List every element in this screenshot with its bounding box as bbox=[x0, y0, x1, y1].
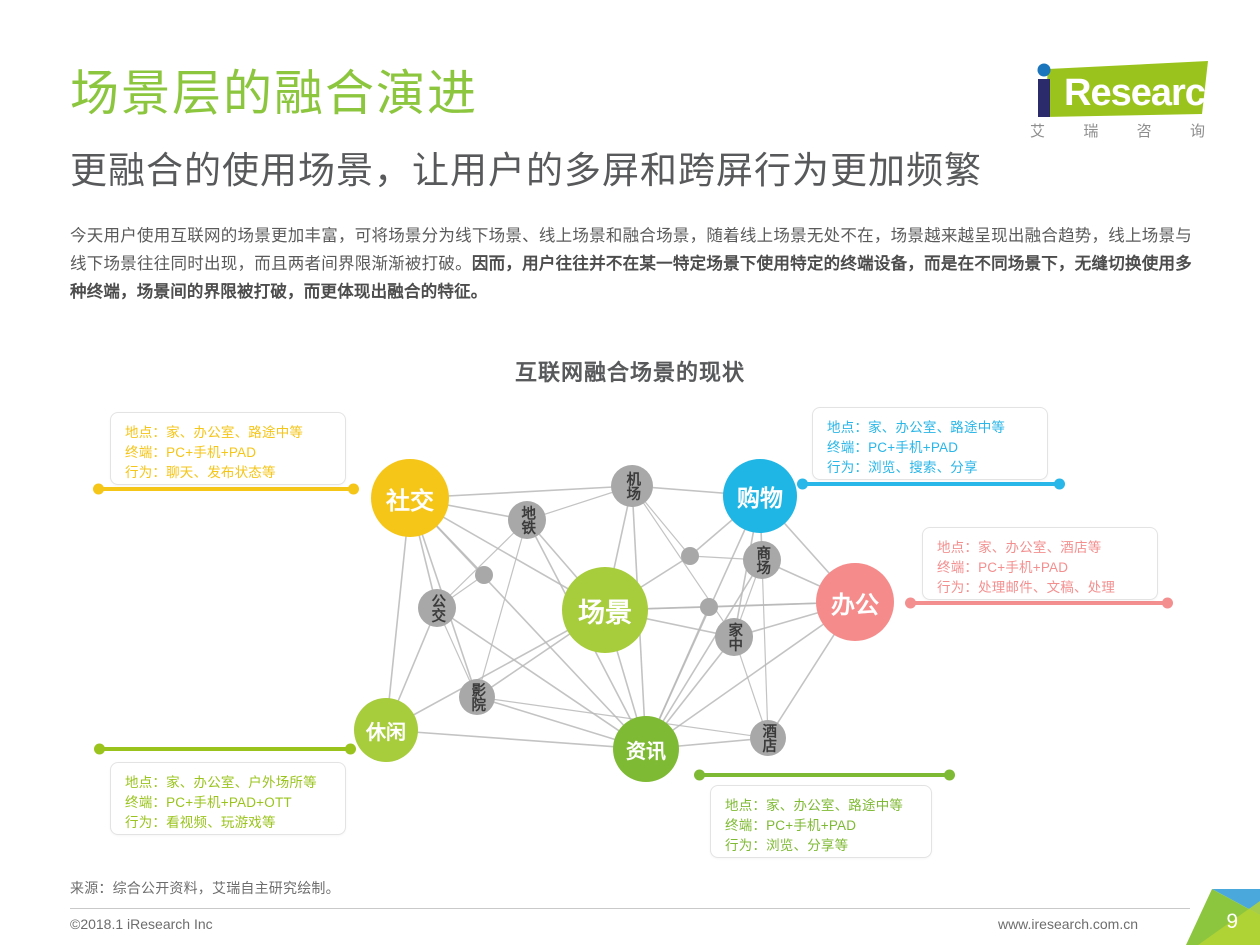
social-callout-line-0: 地点：家、办公室、路途中等 bbox=[125, 423, 331, 443]
info-callout-connector bbox=[697, 773, 952, 777]
office-callout-line-1: 终端：PC+手机+PAD bbox=[937, 558, 1143, 578]
info-callout-connector-cap-l bbox=[694, 770, 705, 781]
leisure-callout-line-1: 终端：PC+手机+PAD+OTT bbox=[125, 793, 331, 813]
social-callout-line-1: 终端：PC+手机+PAD bbox=[125, 443, 331, 463]
diagram-edge bbox=[762, 560, 768, 738]
page-number: 9 bbox=[1226, 910, 1238, 934]
info-callout: 地点：家、办公室、路途中等终端：PC+手机+PAD行为：浏览、分享等 bbox=[710, 785, 932, 858]
footer-divider bbox=[70, 908, 1190, 909]
leisure-callout-line-2: 行为：看视频、玩游戏等 bbox=[125, 813, 331, 833]
shopping-callout-connector-cap-l bbox=[797, 479, 808, 490]
office-callout: 地点：家、办公室、酒店等终端：PC+手机+PAD行为：处理邮件、文稿、处理 bbox=[922, 527, 1158, 600]
info-callout-line-2: 行为：浏览、分享等 bbox=[725, 836, 917, 856]
corner-decoration bbox=[1178, 889, 1260, 945]
info-callout-line-1: 终端：PC+手机+PAD bbox=[725, 816, 917, 836]
page-title: 场景层的融合演进 bbox=[70, 68, 478, 122]
node-label: 地铁 bbox=[520, 506, 535, 535]
diagram-node-leisure[interactable]: 休闲 bbox=[354, 698, 418, 762]
leisure-callout-line-0: 地点：家、办公室、户外场所等 bbox=[125, 773, 331, 793]
svg-text:Research: Research bbox=[1064, 72, 1210, 114]
diagram-edge bbox=[386, 730, 646, 749]
node-label: 社交 bbox=[386, 481, 434, 516]
shopping-callout: 地点：家、办公室、路途中等终端：PC+手机+PAD行为：浏览、搜索、分享 bbox=[812, 407, 1048, 480]
copyright-text: ©2018.1 iResearch Inc bbox=[70, 916, 213, 932]
page-subtitle: 更融合的使用场景，让用户的多屏和跨屏行为更加频繁 bbox=[70, 150, 982, 193]
shopping-callout-connector-cap-r bbox=[1054, 479, 1065, 490]
diagram-node-social[interactable]: 社交 bbox=[371, 459, 449, 537]
diagram-node-mall[interactable]: 商场 bbox=[743, 541, 781, 579]
leisure-callout-connector-cap-r bbox=[345, 744, 356, 755]
social-callout-connector bbox=[96, 487, 356, 491]
node-label: 办公 bbox=[831, 585, 879, 620]
office-callout-connector-cap-l bbox=[905, 598, 916, 609]
logo-sub-char-0: 艾 bbox=[1030, 120, 1045, 141]
source-note: 来源：综合公开资料，艾瑞自主研究绘制。 bbox=[70, 878, 340, 898]
node-label: 家中 bbox=[727, 623, 742, 652]
node-label: 机场 bbox=[625, 472, 640, 501]
slide-page: Research 艾 瑞 咨 询 场景层的融合演进 更融合的使用场景，让用户的多… bbox=[0, 0, 1260, 945]
diagram-edge bbox=[477, 520, 527, 697]
office-callout-line-0: 地点：家、办公室、酒店等 bbox=[937, 538, 1143, 558]
diagram-node-home[interactable]: 家中 bbox=[715, 618, 753, 656]
logo-subtitle: 艾 瑞 咨 询 bbox=[1030, 120, 1205, 141]
logo-mark: Research bbox=[1030, 57, 1210, 127]
social-callout-connector-cap-r bbox=[348, 484, 359, 495]
node-label: 酒店 bbox=[761, 724, 776, 753]
logo-sub-char-2: 咨 bbox=[1137, 120, 1152, 141]
diagram-dot-1 bbox=[681, 547, 699, 565]
shopping-callout-line-0: 地点：家、办公室、路途中等 bbox=[827, 418, 1033, 438]
node-label: 休闲 bbox=[366, 716, 406, 745]
shopping-callout-connector bbox=[800, 482, 1062, 486]
info-callout-connector-cap-r bbox=[944, 770, 955, 781]
node-label: 购物 bbox=[737, 479, 783, 513]
diagram-node-scene[interactable]: 场景 bbox=[562, 567, 648, 653]
office-callout-connector-cap-r bbox=[1162, 598, 1173, 609]
logo-sub-char-1: 瑞 bbox=[1083, 120, 1098, 141]
chart-title: 互联网融合场景的现状 bbox=[0, 355, 1260, 387]
shopping-callout-line-2: 行为：浏览、搜索、分享 bbox=[827, 458, 1033, 478]
diagram-node-airport[interactable]: 机场 bbox=[611, 465, 653, 507]
social-callout: 地点：家、办公室、路途中等终端：PC+手机+PAD行为：聊天、发布状态等 bbox=[110, 412, 346, 485]
social-callout-connector-cap-l bbox=[93, 484, 104, 495]
logo-sub-char-3: 询 bbox=[1190, 120, 1205, 141]
node-label: 资讯 bbox=[626, 735, 666, 764]
diagram-node-office[interactable]: 办公 bbox=[816, 563, 894, 641]
office-callout-connector bbox=[908, 601, 1170, 605]
social-callout-line-2: 行为：聊天、发布状态等 bbox=[125, 463, 331, 483]
body-paragraph: 今天用户使用互联网的场景更加丰富，可将场景分为线下场景、线上场景和融合场景，随着… bbox=[70, 222, 1192, 306]
node-label: 影院 bbox=[470, 683, 485, 712]
shopping-callout-line-1: 终端：PC+手机+PAD bbox=[827, 438, 1033, 458]
node-label: 公交 bbox=[430, 594, 445, 623]
diagram-node-cinema[interactable]: 影院 bbox=[459, 679, 495, 715]
leisure-callout-connector-cap-l bbox=[94, 744, 105, 755]
diagram-node-subway[interactable]: 地铁 bbox=[508, 501, 546, 539]
diagram-dot-2 bbox=[700, 598, 718, 616]
diagram-node-bus[interactable]: 公交 bbox=[418, 589, 456, 627]
leisure-callout-connector bbox=[97, 747, 353, 751]
diagram-node-hotel[interactable]: 酒店 bbox=[750, 720, 786, 756]
node-label: 场景 bbox=[578, 591, 632, 630]
leisure-callout: 地点：家、办公室、户外场所等终端：PC+手机+PAD+OTT行为：看视频、玩游戏… bbox=[110, 762, 346, 835]
node-label: 商场 bbox=[755, 546, 770, 575]
diagram-dot-0 bbox=[475, 566, 493, 584]
diagram-node-info[interactable]: 资讯 bbox=[613, 716, 679, 782]
office-callout-line-2: 行为：处理邮件、文稿、处理 bbox=[937, 578, 1143, 598]
info-callout-line-0: 地点：家、办公室、路途中等 bbox=[725, 796, 917, 816]
website-url: www.iresearch.com.cn bbox=[998, 916, 1138, 932]
diagram-node-shopping[interactable]: 购物 bbox=[723, 459, 797, 533]
